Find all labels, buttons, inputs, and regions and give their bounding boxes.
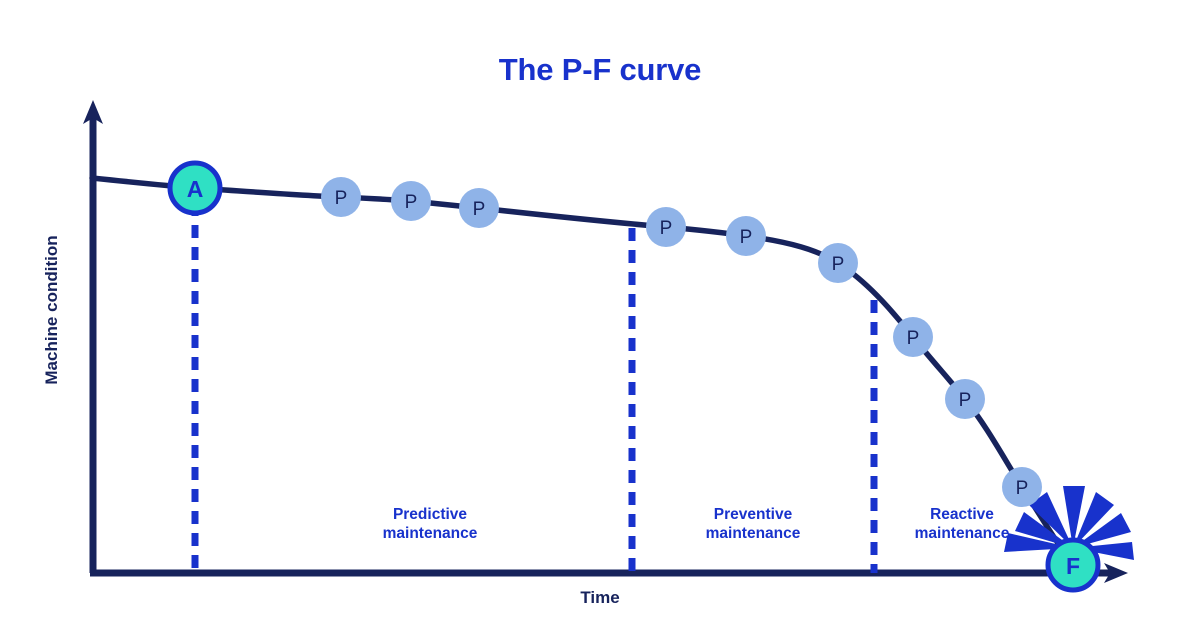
p-marker[interactable]: P bbox=[1002, 467, 1042, 507]
p-marker-label: P bbox=[473, 199, 486, 220]
p-marker-label: P bbox=[660, 218, 673, 239]
p-marker[interactable]: P bbox=[945, 379, 985, 419]
p-marker-label: P bbox=[959, 390, 972, 411]
p-marker-label: P bbox=[740, 227, 753, 248]
node-marker-a-label: A bbox=[187, 176, 204, 202]
zone-label-preventive: Preventive maintenance bbox=[653, 505, 853, 543]
p-marker[interactable]: P bbox=[646, 207, 686, 247]
p-marker-label: P bbox=[405, 192, 418, 213]
p-marker[interactable]: P bbox=[818, 243, 858, 283]
node-marker-f-label: F bbox=[1066, 553, 1080, 579]
node-marker-f[interactable]: F bbox=[1048, 540, 1098, 590]
x-axis-label: Time bbox=[500, 588, 700, 608]
zone-label-predictive: Predictive maintenance bbox=[330, 505, 530, 543]
node-marker-a[interactable]: A bbox=[170, 163, 220, 213]
p-marker[interactable]: P bbox=[893, 317, 933, 357]
p-marker-label: P bbox=[832, 254, 845, 275]
pf-curve-diagram: P P P P P P P bbox=[0, 0, 1200, 627]
p-marker-label: P bbox=[1016, 478, 1029, 499]
y-axis-label: Machine condition bbox=[42, 210, 62, 410]
p-marker[interactable]: P bbox=[459, 188, 499, 228]
p-marker-label: P bbox=[335, 188, 348, 209]
zone-label-reactive: Reactive maintenance bbox=[862, 505, 1062, 543]
p-marker-label: P bbox=[907, 328, 920, 349]
p-markers-group: P P P P P P P bbox=[321, 177, 1042, 507]
p-marker[interactable]: P bbox=[726, 216, 766, 256]
p-marker[interactable]: P bbox=[321, 177, 361, 217]
page-title: The P-F curve bbox=[0, 52, 1200, 88]
p-marker[interactable]: P bbox=[391, 181, 431, 221]
